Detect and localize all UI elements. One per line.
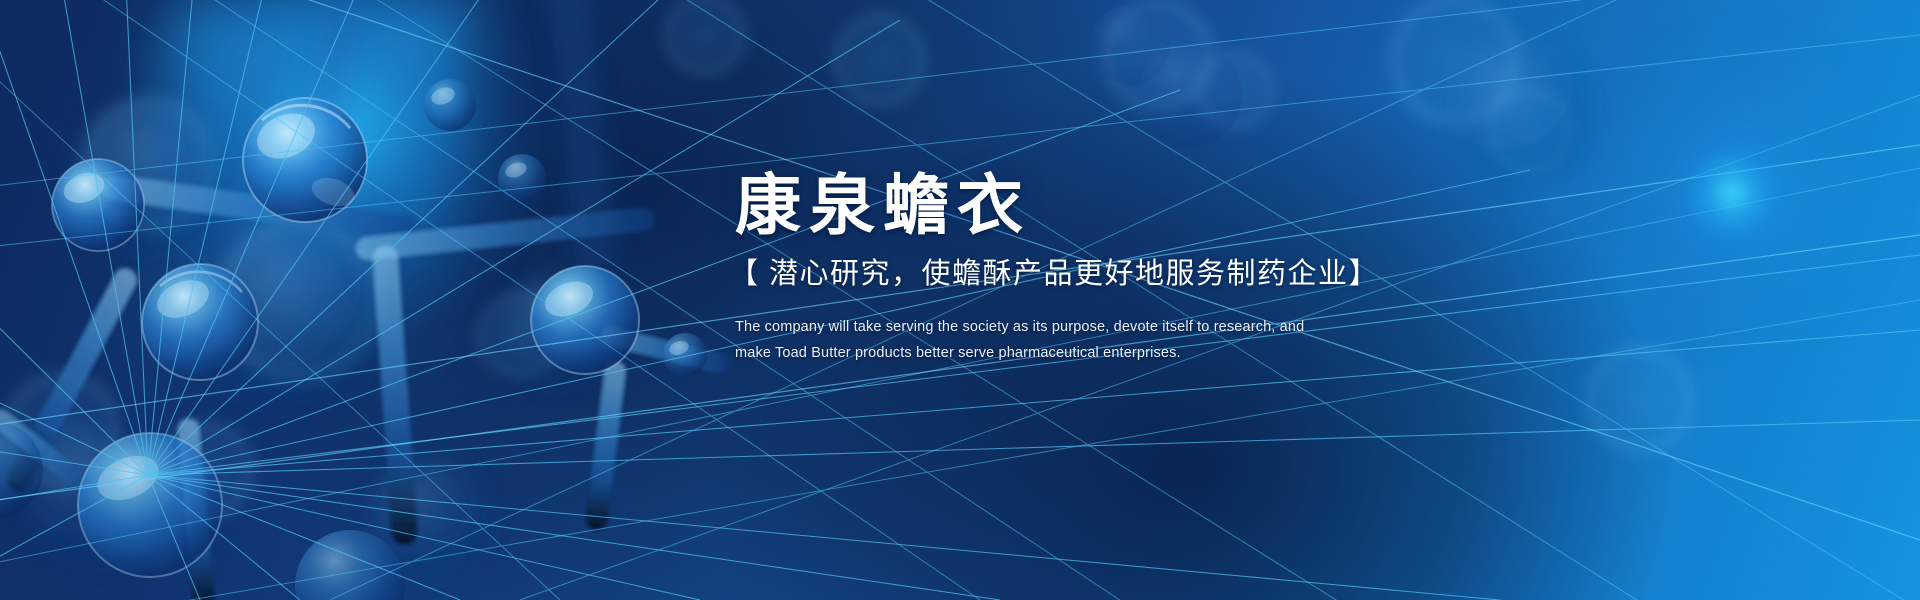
hero-copy: 康泉蟾衣 【 潜心研究，使蟾酥产品更好地服务制药企业】 The company … [735, 172, 1555, 366]
cyan-glow-right-icon [1672, 118, 1792, 268]
page-subtitle: 【 潜心研究，使蟾酥产品更好地服务制药企业】 [729, 256, 1555, 292]
english-description: The company will take serving the societ… [735, 314, 1555, 366]
english-line-1: The company will take serving the societ… [735, 314, 1555, 340]
page-title: 康泉蟾衣 [735, 172, 1555, 238]
english-line-2: make Toad Butter products better serve p… [735, 340, 1555, 366]
hero-banner: 康泉蟾衣 【 潜心研究，使蟾酥产品更好地服务制药企业】 The company … [0, 0, 1920, 600]
